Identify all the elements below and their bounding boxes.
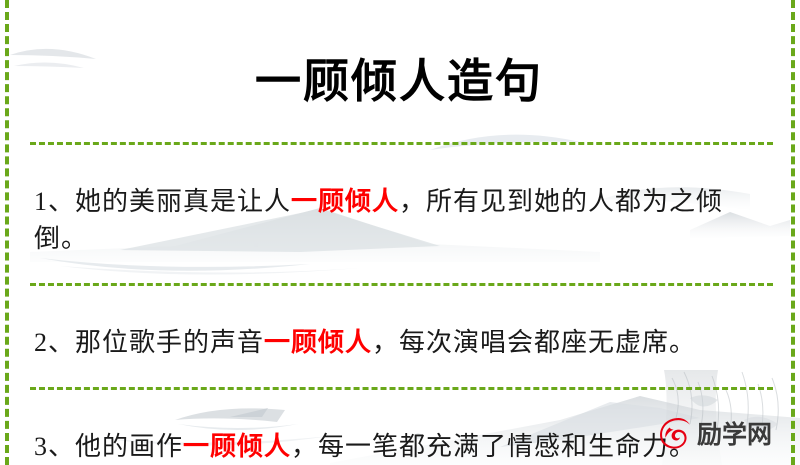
divider-top — [30, 142, 773, 145]
divider-after-sentence-2 — [30, 387, 773, 390]
sentence-3-after: ，每一笔都充满了情感和生命力。 — [291, 432, 696, 461]
sentence-1-index: 1、 — [34, 187, 75, 216]
right-dashed-border — [791, 0, 795, 465]
sentence-2-idiom: 一顾倾人 — [264, 328, 372, 357]
content-area: 一顾倾人造句 1、她的美丽真是让人一顾倾人，所有见到她的人都为之倾倒。 2、那位… — [0, 31, 800, 465]
sentence-item-2: 2、那位歌手的声音一顾倾人，每次演唱会都座无虚席。 — [16, 312, 782, 361]
sentence-2-after: ，每次演唱会都座无虚席。 — [372, 328, 696, 357]
flame-swirl-icon — [658, 416, 692, 450]
sentence-1-idiom: 一顾倾人 — [291, 187, 399, 216]
sentence-2-before: 那位歌手的声音 — [75, 328, 264, 357]
left-dashed-border — [5, 0, 9, 465]
page-title: 一顾倾人造句 — [16, 31, 782, 105]
sentence-2-index: 2、 — [34, 328, 75, 357]
site-logo[interactable]: 励学网 — [658, 415, 772, 451]
sentence-1-before: 她的美丽真是让人 — [75, 187, 291, 216]
sentence-3-index: 3、 — [34, 432, 75, 461]
sentence-card-page: 一顾倾人造句 1、她的美丽真是让人一顾倾人，所有见到她的人都为之倾倒。 2、那位… — [0, 0, 800, 465]
sentence-item-1: 1、她的美丽真是让人一顾倾人，所有见到她的人都为之倾倒。 — [16, 171, 782, 257]
sentence-3-before: 他的画作 — [75, 432, 183, 461]
logo-text: 励学网 — [697, 415, 772, 451]
divider-after-sentence-1 — [30, 283, 773, 286]
sentence-3-idiom: 一顾倾人 — [183, 432, 291, 461]
